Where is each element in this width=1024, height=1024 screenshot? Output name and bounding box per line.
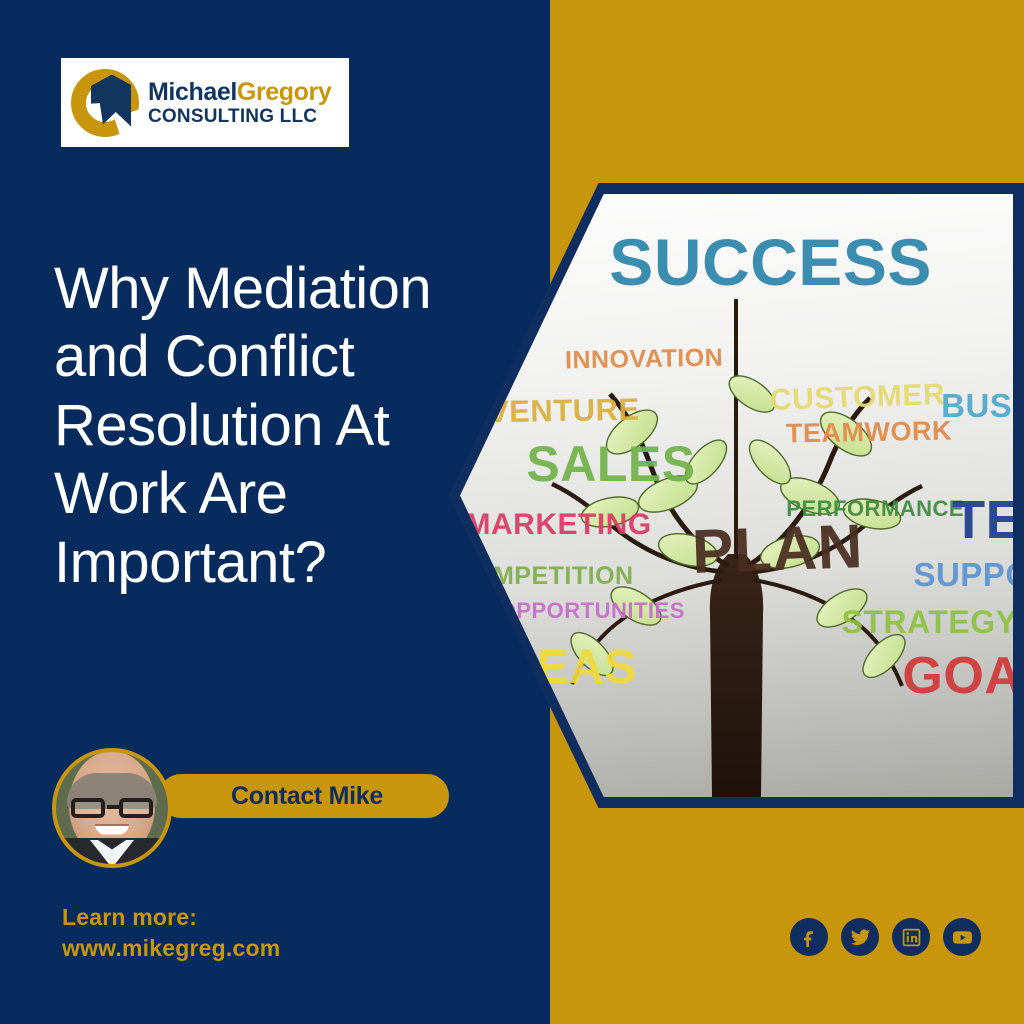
poster-canvas: MichaelGregory CONSULTING LLC Why Mediat… <box>0 0 1024 1024</box>
website-url[interactable]: www.mikegreg.com <box>62 933 280 964</box>
word-cloud-term: BUSINESS <box>941 387 1013 425</box>
word-cloud-term: STRATEGY <box>842 604 1013 641</box>
word-cloud-term: IDEAS <box>488 640 637 695</box>
footer-learn-more: Learn more: www.mikegreg.com <box>62 902 280 964</box>
social-links <box>790 918 981 956</box>
word-cloud-term: SALES <box>526 435 695 493</box>
word-cloud-term: CUSTOMER <box>769 378 945 418</box>
youtube-icon[interactable] <box>943 918 981 956</box>
word-cloud-term: TEAM <box>952 489 1013 551</box>
logo-wordmark: MichaelGregory CONSULTING LLC <box>148 80 331 126</box>
word-cloud-term: GOALS <box>902 646 1013 706</box>
brand-logo[interactable]: MichaelGregory CONSULTING LLC <box>61 58 349 147</box>
word-cloud-term: VENTURE <box>487 392 639 431</box>
twitter-icon[interactable] <box>841 918 879 956</box>
facebook-icon[interactable] <box>790 918 828 956</box>
logo-name-first: Michael <box>148 78 237 106</box>
hero-hexagon: SUCCESSINNOVATIONVENTURESALESMARKETINGCO… <box>449 183 1024 808</box>
avatar[interactable] <box>52 748 172 868</box>
word-cloud-term: OPPORTUNITIES <box>499 598 685 624</box>
contact-mike-label: Contact Mike <box>231 782 383 811</box>
word-cloud-term: SUPPORT <box>913 556 1013 594</box>
word-cloud-term: SUCCESS <box>609 224 932 300</box>
glasses-icon <box>69 798 155 818</box>
word-cloud-term: MARKETING <box>466 508 652 542</box>
word-cloud-term: TEAMWORK <box>786 416 953 450</box>
word-cloud-term: INNOVATION <box>565 343 724 375</box>
logo-name-second: Gregory <box>237 78 331 106</box>
circle-arrow-logo-icon <box>69 67 141 139</box>
contact-mike-button[interactable]: Contact Mike <box>159 774 449 818</box>
logo-tagline: CONSULTING LLC <box>148 107 331 126</box>
word-cloud-tree-image: SUCCESSINNOVATIONVENTURESALESMARKETINGCO… <box>460 194 1013 797</box>
word-cloud-term: PLAN <box>691 511 864 588</box>
learn-more-label: Learn more: <box>62 902 280 933</box>
page-title: Why Mediation and Conflict Resolution At… <box>54 255 474 597</box>
linkedin-icon[interactable] <box>892 918 930 956</box>
contact-section: Contact Mike <box>52 748 432 868</box>
